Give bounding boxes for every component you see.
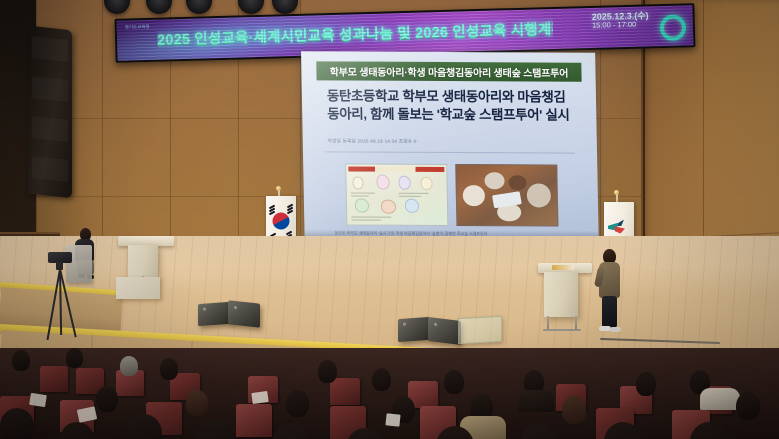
audience-head xyxy=(372,368,391,391)
stage-monitor-4 xyxy=(428,317,461,345)
acrylic-panel xyxy=(458,316,502,344)
presenter-legs xyxy=(602,296,617,328)
line-array-speaker xyxy=(28,26,72,199)
slide-headline: 동탄초등학교 학부모 생태동아리와 마음챙김동아리, 함께 돌보는 '학교숲 스… xyxy=(327,87,577,123)
audience-head xyxy=(272,424,310,439)
slide-figures xyxy=(345,163,558,226)
auditorium-photo-scene: 경기도교육청 2025 인성교육·세계시민교육 성과나눔 및 2026 인성교육… xyxy=(0,0,779,439)
slide-heading-band: 학부모 생태동아리·학생 마음챙김동아리 생태숲 스탬프투어 xyxy=(316,61,581,81)
audience-head xyxy=(286,390,309,417)
camera-tripod xyxy=(40,252,80,344)
slide-divider xyxy=(325,151,575,153)
slide-meta-line: 작성일 등록일 2025.09.16 14:34 조회수 0 xyxy=(328,138,572,145)
handout-paper xyxy=(29,393,47,407)
stage-monitor-2 xyxy=(228,300,260,327)
handout-paper xyxy=(385,413,400,426)
audience-head xyxy=(96,386,118,412)
projection-screen: 학부모 생태동아리·학생 마음챙김동아리 생태숲 스탬프투어 동탄초등학교 학부… xyxy=(301,51,599,253)
audience-head xyxy=(120,356,138,376)
podium-right xyxy=(538,263,592,337)
handout-paper xyxy=(77,406,97,422)
stage-box-left xyxy=(116,277,160,299)
banner-org-logo-text: 경기도교육청 xyxy=(125,24,150,31)
audience-seat xyxy=(330,378,360,405)
stage-monitor-1 xyxy=(198,302,230,326)
ring-logo-icon xyxy=(660,14,687,41)
audience-head xyxy=(444,370,464,394)
taegeuk-icon xyxy=(270,210,293,233)
slide-band-label: 학부모 생태동아리·학생 마음챙김동아리 생태숲 스탬프투어 xyxy=(330,63,569,79)
audience-shoulders xyxy=(518,390,554,412)
audience-head xyxy=(12,350,30,371)
podium-right-body xyxy=(544,272,578,317)
audience-head xyxy=(0,408,34,439)
audience-head xyxy=(562,396,586,424)
activity-photo xyxy=(455,164,558,227)
audience-head xyxy=(160,358,178,380)
audience-seat xyxy=(236,404,272,437)
audience-head xyxy=(318,360,337,383)
audience-head xyxy=(196,420,234,439)
banner-datetime: 2025.12.3.(수) 15:00 - 17:00 xyxy=(592,11,649,30)
audience-head xyxy=(66,348,83,368)
audience-head xyxy=(636,372,656,396)
poster-infographic xyxy=(345,163,448,226)
education-emblem-icon xyxy=(608,220,630,236)
banner-time-text: 15:00 - 17:00 xyxy=(592,21,649,30)
audience-area xyxy=(0,348,779,439)
audience-shoulders xyxy=(700,388,740,410)
audience-head xyxy=(520,424,558,439)
audience-head xyxy=(186,390,208,416)
handout-paper xyxy=(251,391,268,404)
audience-seat xyxy=(40,366,68,392)
presenter-at-podium xyxy=(596,249,624,335)
podium-left-body xyxy=(128,245,158,277)
audience-head xyxy=(736,392,760,420)
podium-right-notes xyxy=(552,265,574,270)
stage-monitor-3 xyxy=(398,317,430,342)
